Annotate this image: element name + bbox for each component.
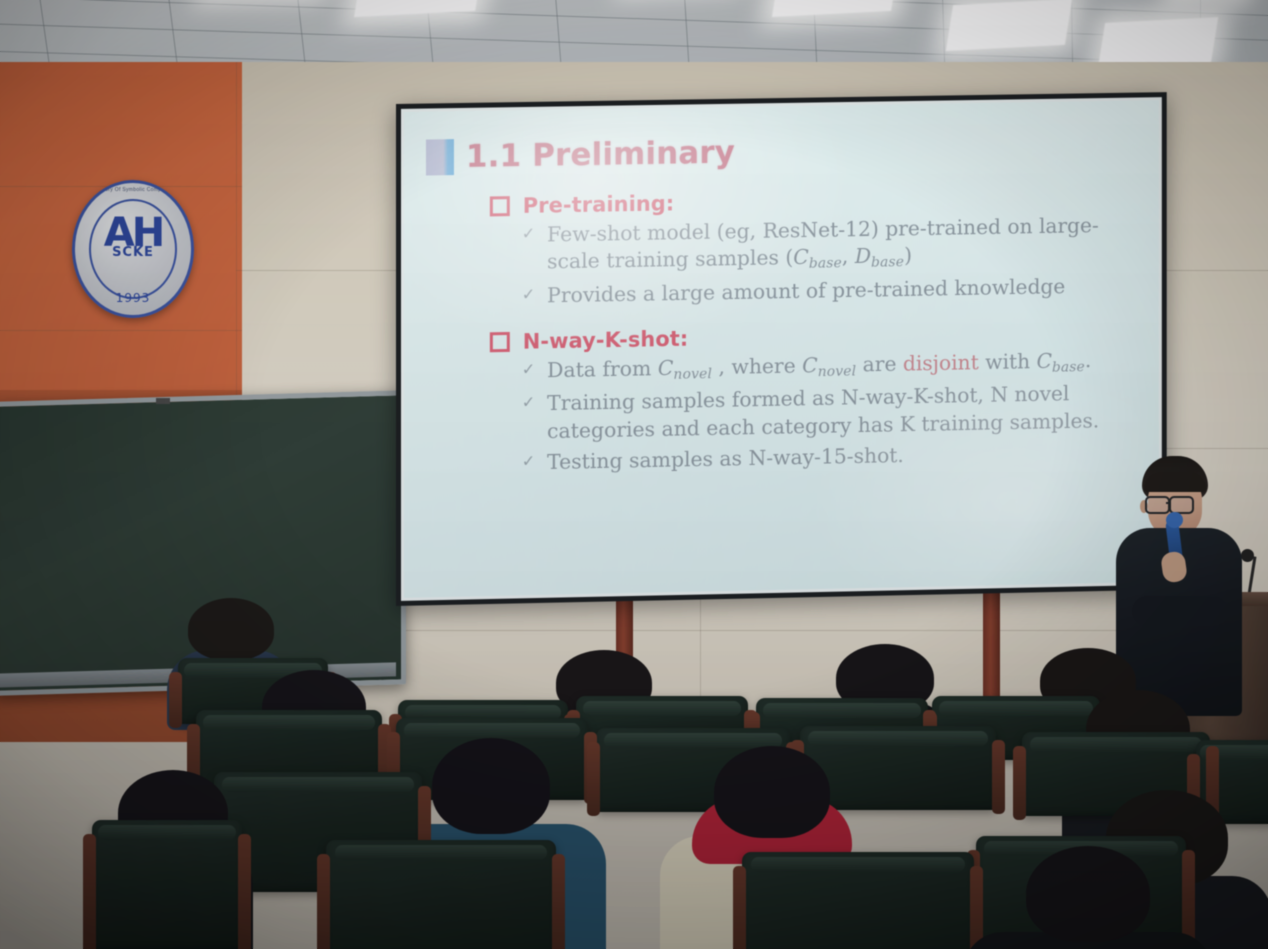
check-bullet-icon: ✓ — [522, 449, 535, 474]
slide-bullet-text: Provides a large amount of pre-trained k… — [547, 272, 1116, 309]
seat-armrest — [238, 834, 251, 949]
slide-heading-label: N-way-K-shot: — [523, 327, 689, 354]
check-bullet-icon: ✓ — [522, 391, 535, 416]
wall-seam — [0, 330, 242, 331]
auditorium-seat — [326, 840, 556, 949]
seat-armrest — [1013, 746, 1026, 820]
slide-title: 1.1 Preliminary — [466, 135, 735, 175]
eyeglasses-lens-left — [1145, 496, 1170, 514]
title-accent-bar — [426, 139, 454, 175]
slide-body: Pre-training:✓Few-shot model (eg, ResNet… — [420, 184, 1137, 479]
seat-armrest — [317, 854, 330, 949]
eyeglasses-bridge — [1166, 502, 1171, 504]
slide-bullet-item: ✓Provides a large amount of pre-trained … — [522, 272, 1116, 310]
square-bullet-icon — [490, 332, 510, 352]
blackboard-clip — [156, 398, 170, 404]
screen-surface: 1.1 Preliminary Pre-training:✓Few-shot m… — [401, 97, 1162, 601]
slide-bullet-item: ✓Few-shot model (eg, ResNet-12) pre-trai… — [522, 212, 1116, 279]
emblem-year: 1993 — [75, 291, 191, 305]
attendee-head — [188, 598, 274, 660]
slide-heading-label: Pre-training: — [523, 191, 675, 217]
slide-title-row: 1.1 Preliminary — [426, 128, 1137, 175]
slide-bullet-text: Few-shot model (eg, ResNet-12) pre-train… — [547, 212, 1116, 278]
seat-armrest — [992, 740, 1005, 814]
slide: 1.1 Preliminary Pre-training:✓Few-shot m… — [404, 100, 1159, 598]
auditorium-seat — [742, 852, 974, 949]
seat-armrest — [587, 742, 600, 816]
check-bullet-icon: ✓ — [522, 357, 535, 382]
slide-bullet-text: Testing samples as N-way-15-shot. — [547, 438, 1116, 476]
projection-screen: 1.1 Preliminary Pre-training:✓Few-shot m… — [396, 92, 1167, 606]
seat-armrest — [733, 866, 746, 949]
lecture-hall-photo: Key Laboratory Of Symbolic Computation A… — [0, 0, 1268, 949]
seat-armrest — [169, 672, 182, 728]
attendee-head — [432, 738, 550, 834]
slide-bullet-item: ✓Training samples formed as N-way-K-shot… — [522, 380, 1116, 446]
square-bullet-icon — [490, 196, 510, 216]
seat-armrest — [970, 866, 983, 949]
emblem-acronym: SCKE — [75, 245, 191, 260]
lab-emblem: Key Laboratory Of Symbolic Computation A… — [64, 166, 194, 326]
emblem-disc: Key Laboratory Of Symbolic Computation A… — [72, 180, 194, 318]
emblem-ring-text: Key Laboratory Of Symbolic Computation A… — [75, 187, 191, 193]
slide-bullet-text: Training samples formed as N-way-K-shot,… — [547, 380, 1116, 445]
attendee-head — [1026, 846, 1150, 942]
check-bullet-icon: ✓ — [522, 282, 535, 307]
presenter-fringe — [1144, 472, 1206, 492]
check-bullet-icon: ✓ — [522, 222, 535, 247]
auditorium-seat — [92, 820, 242, 949]
seat-armrest — [83, 834, 96, 949]
audience — [0, 600, 1268, 949]
attendee-head — [714, 746, 830, 838]
seat-armrest — [552, 854, 565, 949]
